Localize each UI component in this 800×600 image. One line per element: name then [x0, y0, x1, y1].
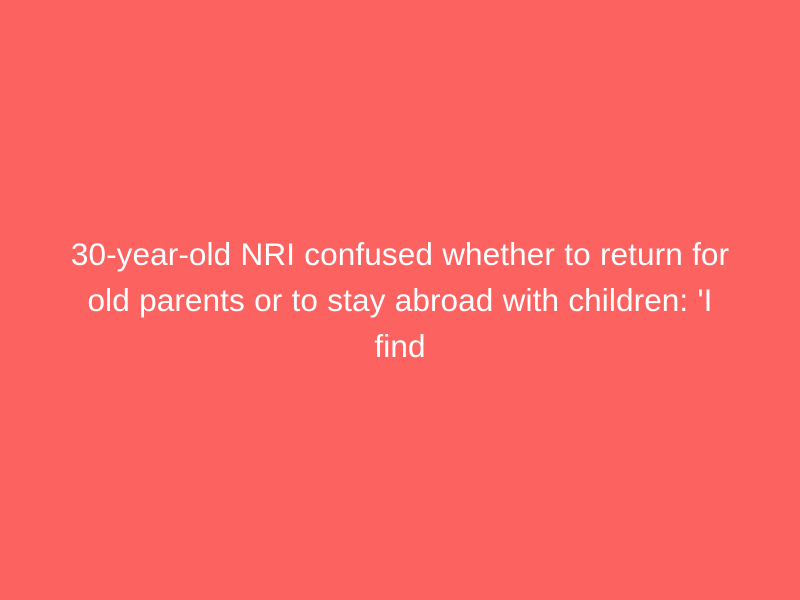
- headline-block: 30-year-old NRI confused whether to retu…: [45, 231, 755, 369]
- headline-line-2: old parents or to stay abroad with child…: [65, 277, 735, 323]
- headline-line-3: find: [65, 323, 735, 369]
- page-title: 30-year-old NRI confused whether to retu…: [65, 231, 735, 369]
- headline-line-1: 30-year-old NRI confused whether to retu…: [65, 231, 735, 277]
- headline-card: 30-year-old NRI confused whether to retu…: [0, 0, 800, 600]
